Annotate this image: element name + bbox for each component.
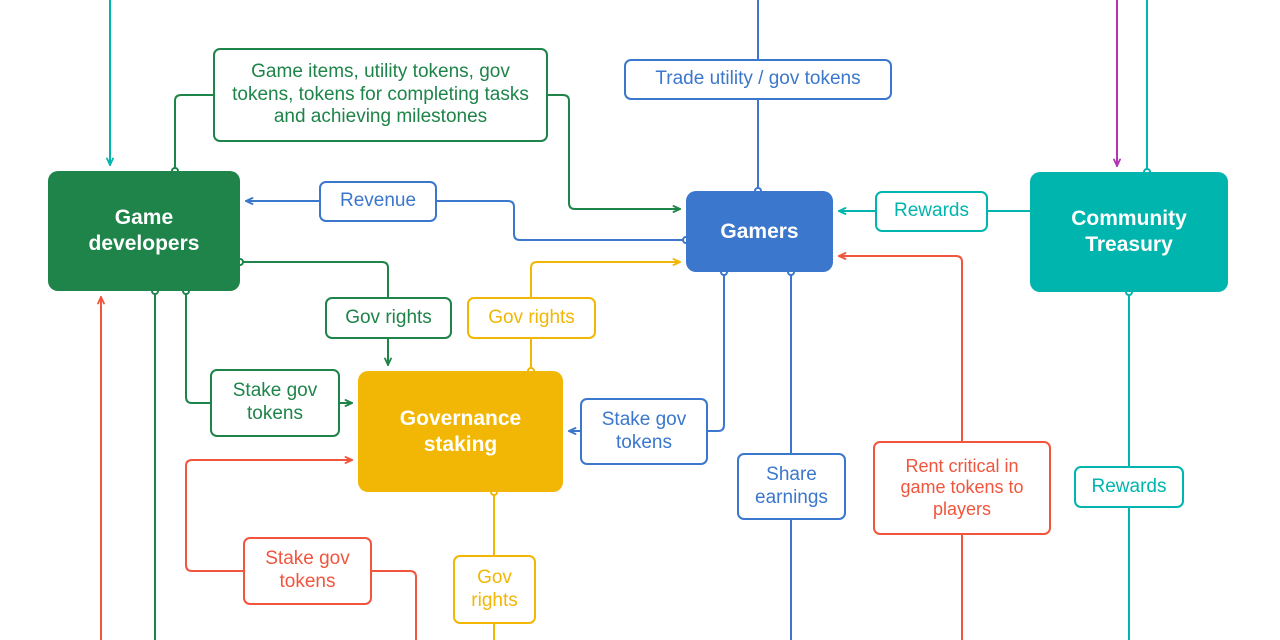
diagram-canvas: Game developers Gamers Community Treasur… [0,0,1280,640]
edge-label-stake-gov-tokens-blue[interactable]: Stake gov tokens [580,398,708,465]
edge-label-rewards-top[interactable]: Rewards [875,191,988,232]
edge-label-trade-utility-text: Trade utility / gov tokens [655,68,860,91]
edge-label-trade-utility[interactable]: Trade utility / gov tokens [624,59,892,100]
connector-gamers-to-stakegov-blue [708,272,724,431]
connector-stakegov-red-right [372,571,416,640]
edge-label-stake-gov-tokens-green-text: Stake gov tokens [219,380,331,426]
edge-label-game-items[interactable]: Game items, utility tokens, gov tokens, … [213,48,548,142]
node-game-developers[interactable]: Game developers [48,171,240,291]
edge-label-share-earnings-text: Share earnings [746,464,837,510]
edge-label-gov-rights-yellow-bottom-text: Gov rights [462,567,527,613]
edge-label-rent-critical[interactable]: Rent critical in game tokens to players [873,441,1051,535]
node-governance-staking-label: Governance staking [400,406,521,457]
edge-label-stake-gov-tokens-red[interactable]: Stake gov tokens [243,537,372,605]
edge-label-rewards-bottom[interactable]: Rewards [1074,466,1184,508]
node-governance-staking[interactable]: Governance staking [358,371,563,492]
edge-label-revenue[interactable]: Revenue [319,181,437,222]
edge-label-gov-rights-yellow-bottom[interactable]: Gov rights [453,555,536,624]
node-community-treasury-label: Community Treasury [1071,206,1187,257]
connector-developers-to-stakegov-green [186,291,210,403]
connector-developers-to-govrights [240,262,388,297]
connector-gamers-to-revenue [437,201,686,240]
edge-label-rewards-bottom-text: Rewards [1092,476,1167,499]
connector-gameitems-to-gamers [548,95,680,209]
connector-developers-to-gameitems [175,95,213,171]
edge-label-rent-critical-text: Rent critical in game tokens to players [882,456,1042,521]
edge-label-gov-rights-green[interactable]: Gov rights [325,297,452,339]
edge-label-game-items-text: Game items, utility tokens, gov tokens, … [222,61,539,129]
edge-label-gov-rights-green-text: Gov rights [345,307,432,330]
edge-label-rewards-top-text: Rewards [894,200,969,223]
node-community-treasury[interactable]: Community Treasury [1030,172,1228,292]
node-gamers[interactable]: Gamers [686,191,833,272]
connector-rentcritical-up-to-gamers [839,256,962,441]
edge-label-gov-rights-yellow-text: Gov rights [488,307,575,330]
connector-govrights-yellow-to-gamers [531,262,680,297]
edge-label-gov-rights-yellow[interactable]: Gov rights [467,297,596,339]
node-game-developers-label: Game developers [89,205,200,256]
edge-label-share-earnings[interactable]: Share earnings [737,453,846,520]
edge-label-stake-gov-tokens-green[interactable]: Stake gov tokens [210,369,340,437]
edge-label-stake-gov-tokens-red-text: Stake gov tokens [252,548,363,594]
edge-label-revenue-text: Revenue [340,190,416,213]
edge-label-stake-gov-tokens-blue-text: Stake gov tokens [589,409,699,455]
node-gamers-label: Gamers [720,219,798,245]
